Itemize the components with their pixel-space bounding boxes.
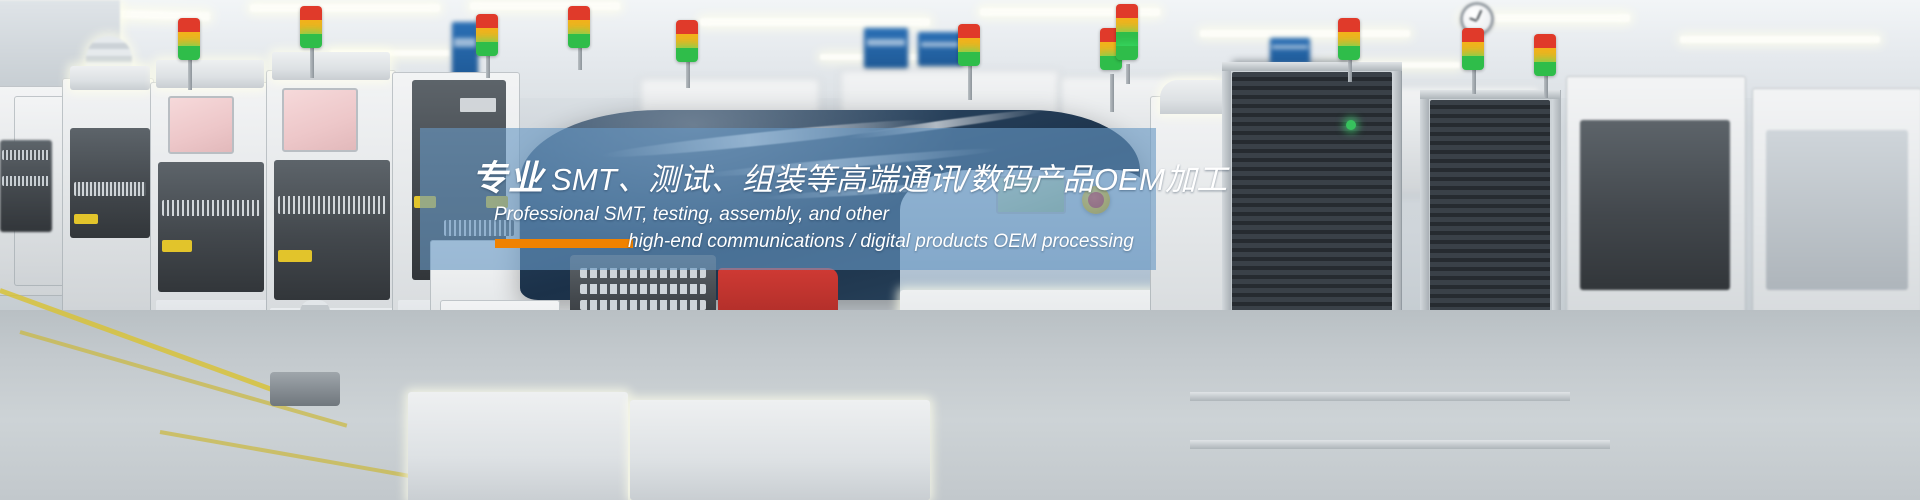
ceiling-light	[250, 4, 440, 12]
hazard-label	[162, 240, 192, 252]
andon-stack-light	[300, 6, 322, 48]
light-pole	[1472, 66, 1476, 94]
feeder-strip	[2, 150, 50, 160]
far-right-panel	[1766, 130, 1908, 290]
light-pole	[968, 66, 972, 100]
smt-machine-top	[156, 60, 264, 88]
machine-touch-screen[interactable]	[282, 88, 358, 152]
andon-stack-light	[476, 14, 498, 56]
banner-stage: 专业SMT、测试、组装等高端通讯/数码产品OEM加工 Professional …	[0, 0, 1920, 500]
light-pole	[310, 48, 314, 78]
ceiling-light	[1680, 36, 1880, 43]
andon-stack-light	[1116, 4, 1138, 60]
overhead-sign	[918, 32, 962, 66]
light-pole	[1110, 74, 1114, 112]
feeder-strip	[162, 200, 260, 216]
promo-text-overlay: 专业SMT、测试、组装等高端通讯/数码产品OEM加工 Professional …	[420, 128, 1156, 270]
rack-slots	[1232, 72, 1392, 342]
andon-stack-light	[676, 20, 698, 62]
feeder-strip	[74, 182, 146, 196]
light-pole	[188, 56, 192, 90]
andon-stack-light	[568, 6, 590, 48]
machine-feeder-bay	[274, 160, 390, 300]
rack-rail	[1420, 90, 1560, 99]
ceiling-light	[1200, 30, 1410, 37]
hazard-label	[278, 250, 312, 262]
machine-feeder-bay	[158, 162, 264, 292]
ceiling-light	[700, 18, 930, 26]
foreground-machine-edge	[270, 372, 340, 406]
console-keys[interactable]	[580, 300, 706, 310]
andon-stack-light	[958, 24, 980, 66]
machine-touch-screen[interactable]	[168, 96, 234, 154]
headline-rest: SMT、测试、组装等高端通讯/数码产品OEM加工	[551, 162, 1227, 197]
light-pole	[686, 58, 690, 88]
rack-rail	[1190, 440, 1610, 449]
overhead-sign	[452, 22, 478, 78]
smt-machine-top	[70, 66, 150, 90]
foreground-machine-edge	[408, 392, 628, 500]
hazard-label	[74, 214, 98, 224]
subtitle-line-2: high-end communications / digital produc…	[628, 231, 1156, 253]
rack-rail	[1222, 62, 1402, 71]
smt-machine-top	[272, 52, 390, 80]
andon-stack-light	[1338, 18, 1360, 60]
rack-rail	[1190, 392, 1570, 401]
machine-label	[460, 98, 496, 112]
ceiling-light	[470, 2, 620, 10]
foreground-machine-edge	[630, 400, 930, 500]
overhead-sign	[1270, 38, 1310, 64]
andon-stack-light	[1534, 34, 1556, 76]
magazine-rack	[1222, 62, 1402, 352]
feeder-strip	[278, 196, 386, 214]
console-keys[interactable]	[580, 284, 706, 294]
feeder-strip	[2, 176, 50, 186]
light-pole	[1126, 64, 1130, 84]
far-right-machine-bay	[1580, 120, 1730, 290]
overhead-sign	[864, 28, 908, 68]
headline-keyword: 专业	[472, 159, 544, 198]
headline: 专业SMT、测试、组装等高端通讯/数码产品OEM加工	[472, 150, 1227, 201]
andon-stack-light	[1462, 28, 1484, 70]
subtitle-line-1: Professional SMT, testing, assembly, and…	[494, 204, 1156, 226]
rack-status-light	[1346, 120, 1356, 130]
accent-bar	[495, 239, 633, 248]
andon-stack-light	[178, 18, 200, 60]
